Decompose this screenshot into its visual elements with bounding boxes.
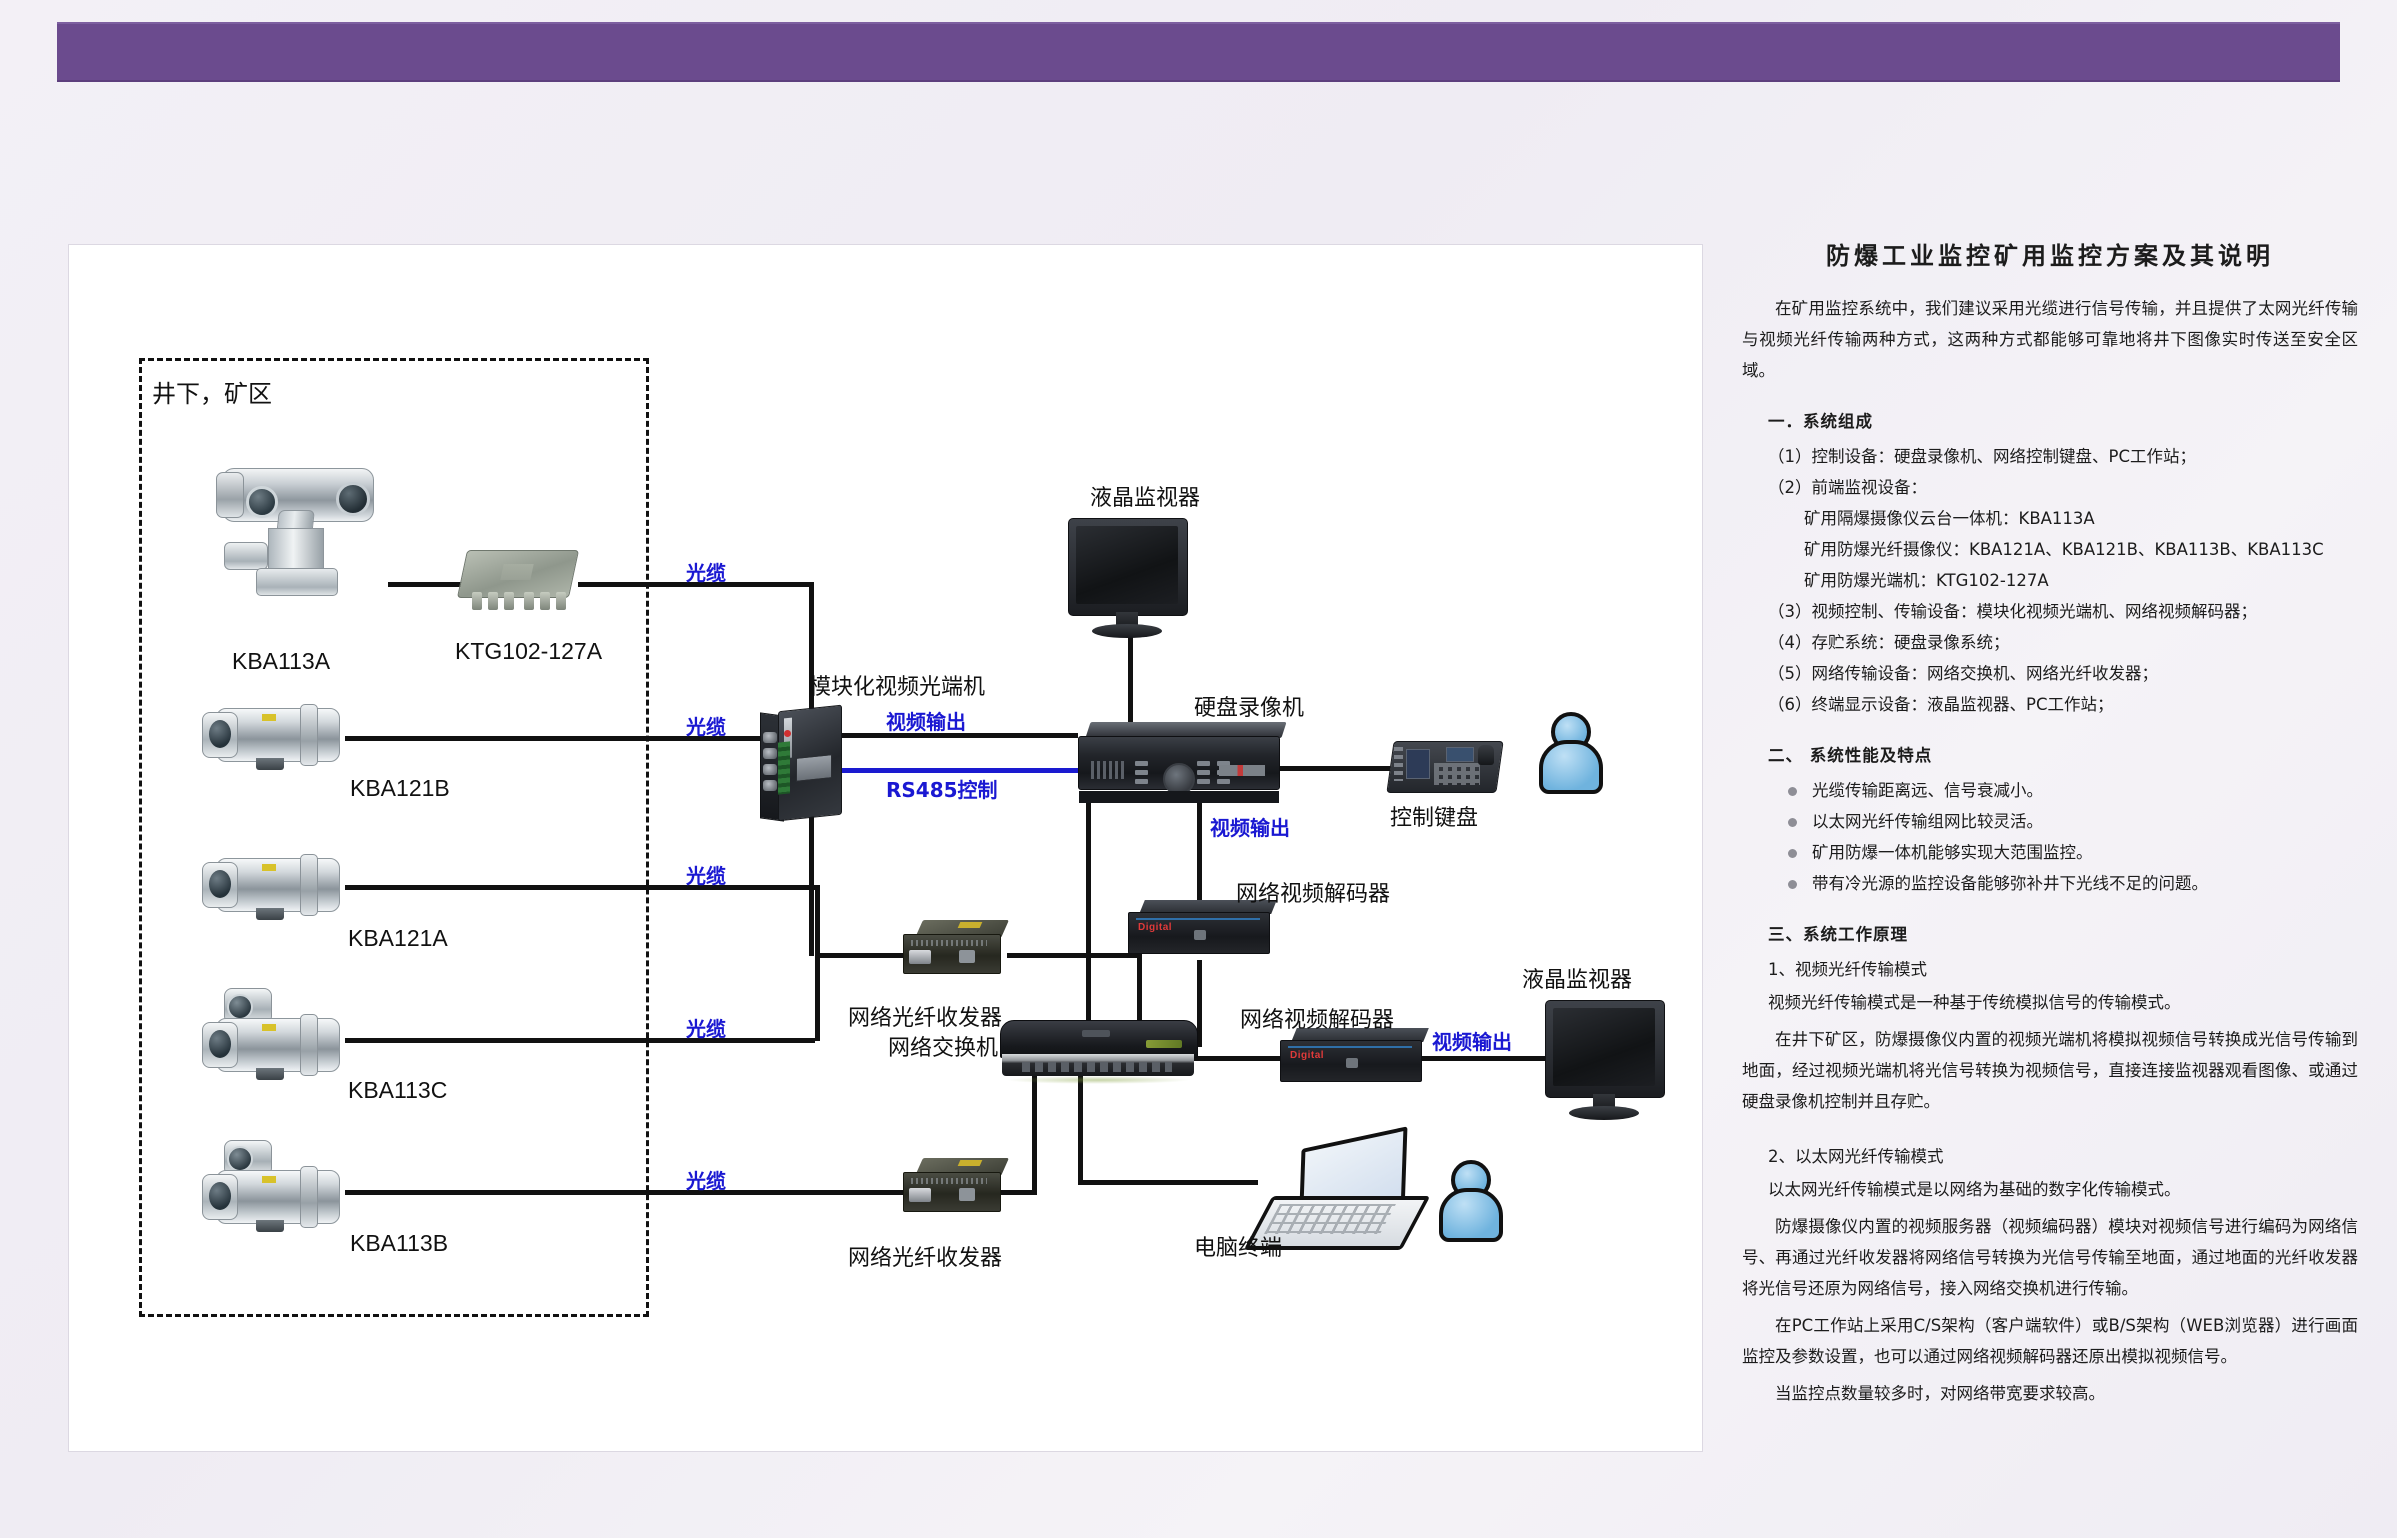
label-video-decoder-lower: 网络视频解码器 bbox=[1240, 1002, 1394, 1034]
network-fiber-transceiver-upper bbox=[903, 920, 1007, 982]
bullet-dot-icon bbox=[1788, 787, 1797, 796]
wire-switch-down-left bbox=[1032, 1075, 1037, 1190]
section-1-item-5: （5）网络传输设备：网络交换机、网络光纤收发器； bbox=[1768, 658, 2358, 689]
section-1-item-4: （4）存贮系统：硬盘录像系统； bbox=[1768, 627, 2358, 658]
cable-label-rs485: RS485控制 bbox=[886, 774, 998, 803]
mode-2-paragraph-4: 当监控点数量较多时，对网络带宽要求较高。 bbox=[1742, 1378, 2358, 1409]
lcd-monitor-top bbox=[1068, 518, 1188, 640]
label-network-switch: 网络交换机 bbox=[888, 1030, 998, 1062]
model-label-kba121a: KBA121A bbox=[348, 925, 448, 952]
section-2-bullet-2-text: 以太网光纤传输组网比较灵活。 bbox=[1812, 812, 2043, 831]
section-2-bullet-4: 带有冷光源的监控设备能够弥补井下光线不足的问题。 bbox=[1788, 868, 2358, 899]
underground-zone-label: 井下，矿区 bbox=[152, 374, 272, 409]
mode-1-paragraph-1: 视频光纤传输模式是一种基于传统模拟信号的传输模式。 bbox=[1768, 987, 2358, 1018]
wire-decoder-lower-to-monitor bbox=[1420, 1056, 1547, 1061]
junction-box-ktg102-127a bbox=[462, 550, 578, 616]
wire-kba113c bbox=[345, 1038, 815, 1043]
page-root: 井下，矿区 KBA113A bbox=[0, 0, 2397, 1538]
control-keyboard bbox=[1390, 735, 1502, 797]
bullet-dot-icon bbox=[1788, 880, 1797, 889]
camera-kba121b bbox=[200, 700, 350, 776]
decoder-brand-upper: Digital bbox=[1138, 922, 1172, 933]
wire-dvr-video-output-down bbox=[1197, 800, 1202, 913]
camera-kba113b bbox=[200, 1162, 350, 1238]
section-2-bullet-1: 光缆传输距离远、信号衰减小。 bbox=[1788, 775, 2358, 806]
wire-dvr-to-monitor bbox=[1128, 634, 1133, 734]
wire-kba121a-down bbox=[815, 885, 820, 956]
decoder-brand-lower: Digital bbox=[1290, 1050, 1324, 1061]
wire-dvr-to-keyboard bbox=[1280, 766, 1390, 771]
section-2-bullet-3: 矿用防爆一体机能够实现大范围监控。 bbox=[1788, 837, 2358, 868]
wire-upper-transceiver-out bbox=[1007, 953, 1142, 958]
wire-kba121a bbox=[345, 885, 820, 890]
model-label-kba113c: KBA113C bbox=[348, 1077, 447, 1104]
operator-avatar-bottom bbox=[1435, 1160, 1499, 1234]
mode-2-paragraph-2: 防爆摄像仪内置的视频服务器（视频编码器）模块对视频信号进行编码为网络信号、再通过… bbox=[1742, 1211, 2358, 1304]
label-pc-terminal: 电脑终端 bbox=[1194, 1230, 1282, 1262]
label-modular-optical-terminal: 模块化视频光端机 bbox=[809, 669, 985, 701]
lcd-monitor-bottom bbox=[1545, 1000, 1665, 1122]
section-2-heading: 二、 系统性能及特点 bbox=[1768, 740, 2358, 771]
intro-paragraph: 在矿用监控系统中，我们建议采用光缆进行信号传输，并且提供了太网光纤传输与视频光纤… bbox=[1742, 293, 2358, 386]
label-lcd-monitor-top: 液晶监视器 bbox=[1090, 480, 1200, 512]
explanation-column: 防爆工业监控矿用监控方案及其说明 在矿用监控系统中，我们建议采用光缆进行信号传输… bbox=[1742, 236, 2358, 1415]
section-1-subitem-2: 矿用防爆光纤摄像仪：KBA121A、KBA121B、KBA113B、KBA113… bbox=[1804, 534, 2358, 565]
page-title: 防爆工业监控矿用监控方案及其说明 bbox=[1742, 236, 2358, 271]
section-2-bullet-2: 以太网光纤传输组网比较灵活。 bbox=[1788, 806, 2358, 837]
model-label-ktg102-127a: KTG102-127A bbox=[455, 638, 602, 665]
section-2-bullet-3-text: 矿用防爆一体机能够实现大范围监控。 bbox=[1812, 843, 2093, 862]
network-switch bbox=[1000, 1020, 1200, 1088]
label-lcd-monitor-bottom: 液晶监视器 bbox=[1522, 962, 1632, 994]
cable-label-video-output-3: 视频输出 bbox=[1432, 1026, 1512, 1055]
mode-1-heading: 1、视频光纤传输模式 bbox=[1768, 954, 2358, 985]
section-1-subitem-3: 矿用防爆光端机：KTG102-127A bbox=[1804, 565, 2358, 596]
label-fiber-transceiver-upper: 网络光纤收发器 bbox=[848, 1000, 1002, 1032]
section-1-subitem-1: 矿用隔爆摄像仪云台一体机：KBA113A bbox=[1804, 503, 2358, 534]
section-2-bullet-4-text: 带有冷光源的监控设备能够弥补井下光线不足的问题。 bbox=[1812, 874, 2208, 893]
camera-kba121a bbox=[200, 850, 350, 926]
wire-dvr-to-switch bbox=[1086, 800, 1091, 1045]
cable-label-fiber-4: 光缆 bbox=[686, 1013, 726, 1042]
wire-kba113b bbox=[345, 1190, 913, 1195]
wire-kba113c-up bbox=[815, 953, 820, 1041]
bullet-dot-icon bbox=[1788, 849, 1797, 858]
header-band bbox=[57, 22, 2340, 82]
mode-2-paragraph-1: 以太网光纤传输模式是以网络为基础的数字化传输模式。 bbox=[1768, 1174, 2358, 1205]
model-label-kba113b: KBA113B bbox=[350, 1230, 448, 1257]
model-label-kba121b: KBA121B bbox=[350, 775, 450, 802]
cable-label-fiber-1: 光缆 bbox=[686, 557, 726, 586]
wire-optmod-down bbox=[809, 806, 814, 956]
mode-1-paragraph-2: 在井下矿区，防爆摄像仪内置的视频光端机将模拟视频信号转换成光信号传输到地面，经过… bbox=[1742, 1024, 2358, 1117]
camera-kba113c bbox=[200, 1010, 350, 1086]
cable-label-video-output-2: 视频输出 bbox=[1210, 812, 1290, 841]
cable-label-video-output-1: 视频输出 bbox=[886, 706, 966, 735]
mode-2-heading: 2、以太网光纤传输模式 bbox=[1768, 1141, 2358, 1172]
wire-switch-to-laptop bbox=[1078, 1180, 1258, 1185]
dvr-recorder bbox=[1078, 722, 1288, 798]
label-fiber-transceiver-lower: 网络光纤收发器 bbox=[848, 1240, 1002, 1272]
wire-ptz-to-jbox bbox=[388, 582, 464, 587]
operator-avatar-top bbox=[1535, 712, 1599, 786]
section-1-item-2: （2）前端监视设备： bbox=[1768, 472, 2358, 503]
section-1-item-3: （3）视频控制、传输设备：模块化视频光端机、网络视频解码器； bbox=[1768, 596, 2358, 627]
network-video-decoder-lower: Digital bbox=[1280, 1028, 1430, 1086]
section-1-item-1: （1）控制设备：硬盘录像机、网络控制键盘、PC工作站； bbox=[1768, 441, 2358, 472]
network-fiber-transceiver-lower bbox=[903, 1158, 1007, 1220]
cable-label-fiber-5: 光缆 bbox=[686, 1165, 726, 1194]
model-label-kba113a: KBA113A bbox=[232, 648, 330, 675]
network-video-decoder-upper: Digital bbox=[1128, 900, 1278, 958]
section-1-item-6: （6）终端显示设备：液晶监视器、PC工作站； bbox=[1768, 689, 2358, 720]
label-dvr: 硬盘录像机 bbox=[1194, 690, 1304, 722]
bullet-dot-icon bbox=[1788, 818, 1797, 827]
section-2-bullet-1-text: 光缆传输距离远、信号衰减小。 bbox=[1812, 781, 2043, 800]
label-control-keyboard: 控制键盘 bbox=[1390, 800, 1478, 832]
cable-label-fiber-3: 光缆 bbox=[686, 860, 726, 889]
wire-rs485-to-dvr bbox=[838, 768, 1078, 773]
section-3-heading: 三、系统工作原理 bbox=[1768, 919, 2358, 950]
spacer bbox=[1742, 1123, 2358, 1139]
ptz-camera-kba113a bbox=[216, 450, 386, 600]
label-video-decoder-upper: 网络视频解码器 bbox=[1236, 876, 1390, 908]
wire-switch-down-right bbox=[1078, 1075, 1083, 1180]
mode-2-paragraph-3: 在PC工作站上采用C/S架构（客户端软件）或B/S架构（WEB浏览器）进行画面监… bbox=[1742, 1310, 2358, 1372]
section-1-heading: 一．系统组成 bbox=[1768, 406, 2358, 437]
cable-label-fiber-2: 光缆 bbox=[686, 711, 726, 740]
wire-to-upper-transceiver bbox=[815, 953, 913, 958]
modular-video-optical-terminal bbox=[760, 702, 842, 822]
